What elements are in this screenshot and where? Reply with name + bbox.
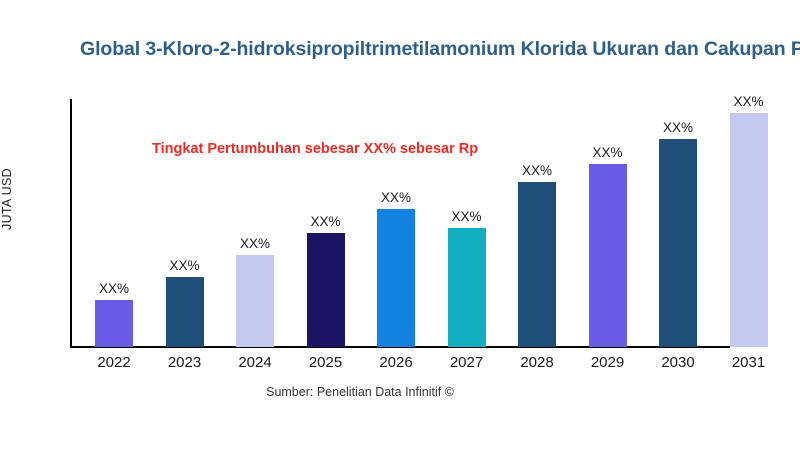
- x-tick-label-2022: 2022: [81, 354, 147, 371]
- bar-2030[interactable]: [659, 139, 697, 347]
- bar-2026[interactable]: [377, 209, 415, 347]
- bar-value-label-2030: XX%: [645, 120, 711, 135]
- x-tick-label-2030: 2030: [645, 354, 711, 371]
- bar-2023[interactable]: [166, 277, 204, 347]
- bar-2022[interactable]: [95, 300, 133, 347]
- bar-2027[interactable]: [448, 228, 486, 347]
- x-tick-label-2025: 2025: [293, 354, 359, 371]
- bar-2028[interactable]: [518, 182, 556, 347]
- x-tick-label-2029: 2029: [575, 354, 641, 371]
- plot-area: XX%2022XX%2023XX%2024XX%2025XX%2026XX%20…: [0, 0, 800, 450]
- x-tick-label-2023: 2023: [152, 354, 218, 371]
- bar-value-label-2028: XX%: [504, 163, 570, 178]
- bar-value-label-2023: XX%: [152, 258, 218, 273]
- bar-2031[interactable]: [730, 113, 768, 347]
- bar-2025[interactable]: [307, 233, 345, 347]
- x-tick-label-2027: 2027: [434, 354, 500, 371]
- x-tick-label-2026: 2026: [363, 354, 429, 371]
- bar-value-label-2026: XX%: [363, 190, 429, 205]
- bar-value-label-2029: XX%: [575, 145, 641, 160]
- bar-value-label-2024: XX%: [222, 236, 288, 251]
- bar-2029[interactable]: [589, 164, 627, 347]
- x-tick-label-2024: 2024: [222, 354, 288, 371]
- bar-value-label-2025: XX%: [293, 214, 359, 229]
- x-tick-label-2028: 2028: [504, 354, 570, 371]
- source-note: Sumber: Penelitian Data Infinitif ©: [0, 385, 720, 399]
- bar-value-label-2027: XX%: [434, 209, 500, 224]
- bar-value-label-2031: XX%: [716, 94, 782, 109]
- x-tick-label-2031: 2031: [716, 354, 782, 371]
- bar-chart: Global 3-Kloro-2-hidroksipropiltrimetila…: [0, 0, 800, 450]
- bar-2024[interactable]: [236, 255, 274, 347]
- bar-value-label-2022: XX%: [81, 281, 147, 296]
